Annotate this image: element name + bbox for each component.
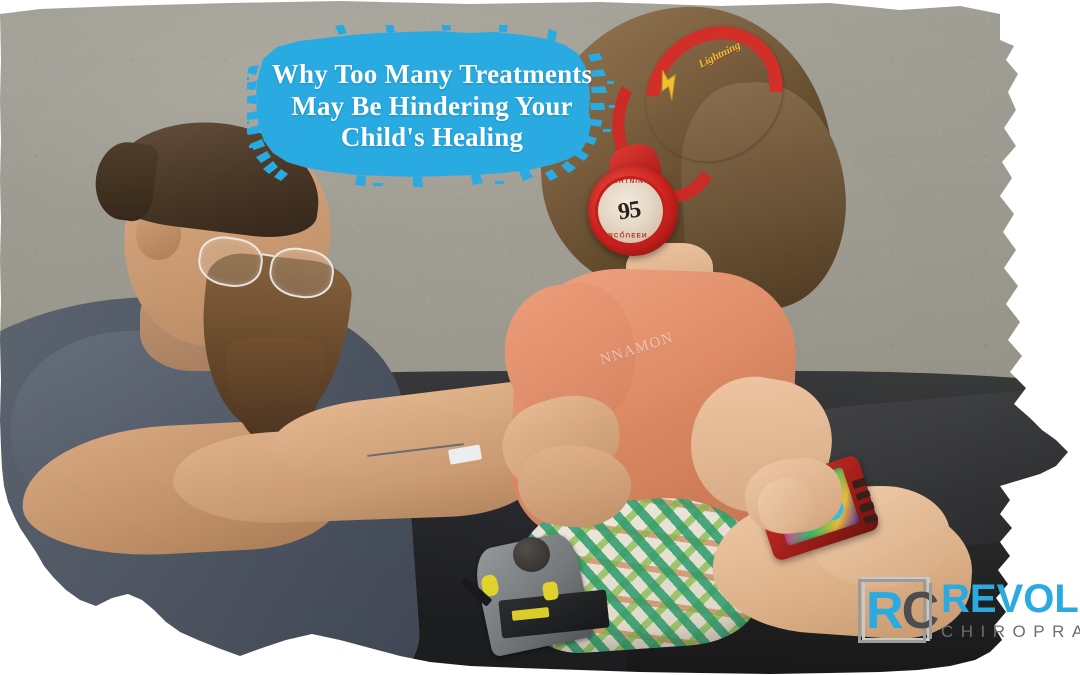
logo-brand-name: REVOLUTIO bbox=[941, 579, 1080, 619]
logo-letter-r: R bbox=[866, 582, 902, 640]
eyeglasses-left-lens bbox=[195, 233, 266, 291]
headphones-badge-bottom-text: MCQUEEN bbox=[594, 231, 661, 238]
logo-monogram: RC bbox=[866, 583, 937, 639]
headline-banner: Why Too Many Treatments May Be Hindering… bbox=[247, 25, 617, 190]
eyeglasses-right-lens bbox=[266, 244, 337, 302]
adjusting-instrument-accent-b bbox=[542, 581, 559, 600]
brand-logo[interactable]: RC REVOLUTIO CHIROPRACT bbox=[858, 575, 1080, 647]
adjusting-instrument-head bbox=[513, 537, 550, 572]
logo-brand-tagline: CHIROPRACT bbox=[941, 621, 1080, 643]
logo-monogram-mark: RC bbox=[858, 577, 932, 645]
page-title: Why Too Many Treatments May Be Hindering… bbox=[247, 25, 617, 190]
headline-text: Why Too Many Treatments May Be Hindering… bbox=[263, 59, 601, 154]
logo-divider-bar bbox=[929, 583, 932, 639]
eyeglasses-bridge bbox=[261, 253, 273, 257]
graphic-canvas: NNAMON Lightning LIGHTNING 95 MCQUEEN bbox=[0, 0, 1080, 675]
logo-wordmark: REVOLUTIO CHIROPRACT bbox=[941, 579, 1080, 643]
